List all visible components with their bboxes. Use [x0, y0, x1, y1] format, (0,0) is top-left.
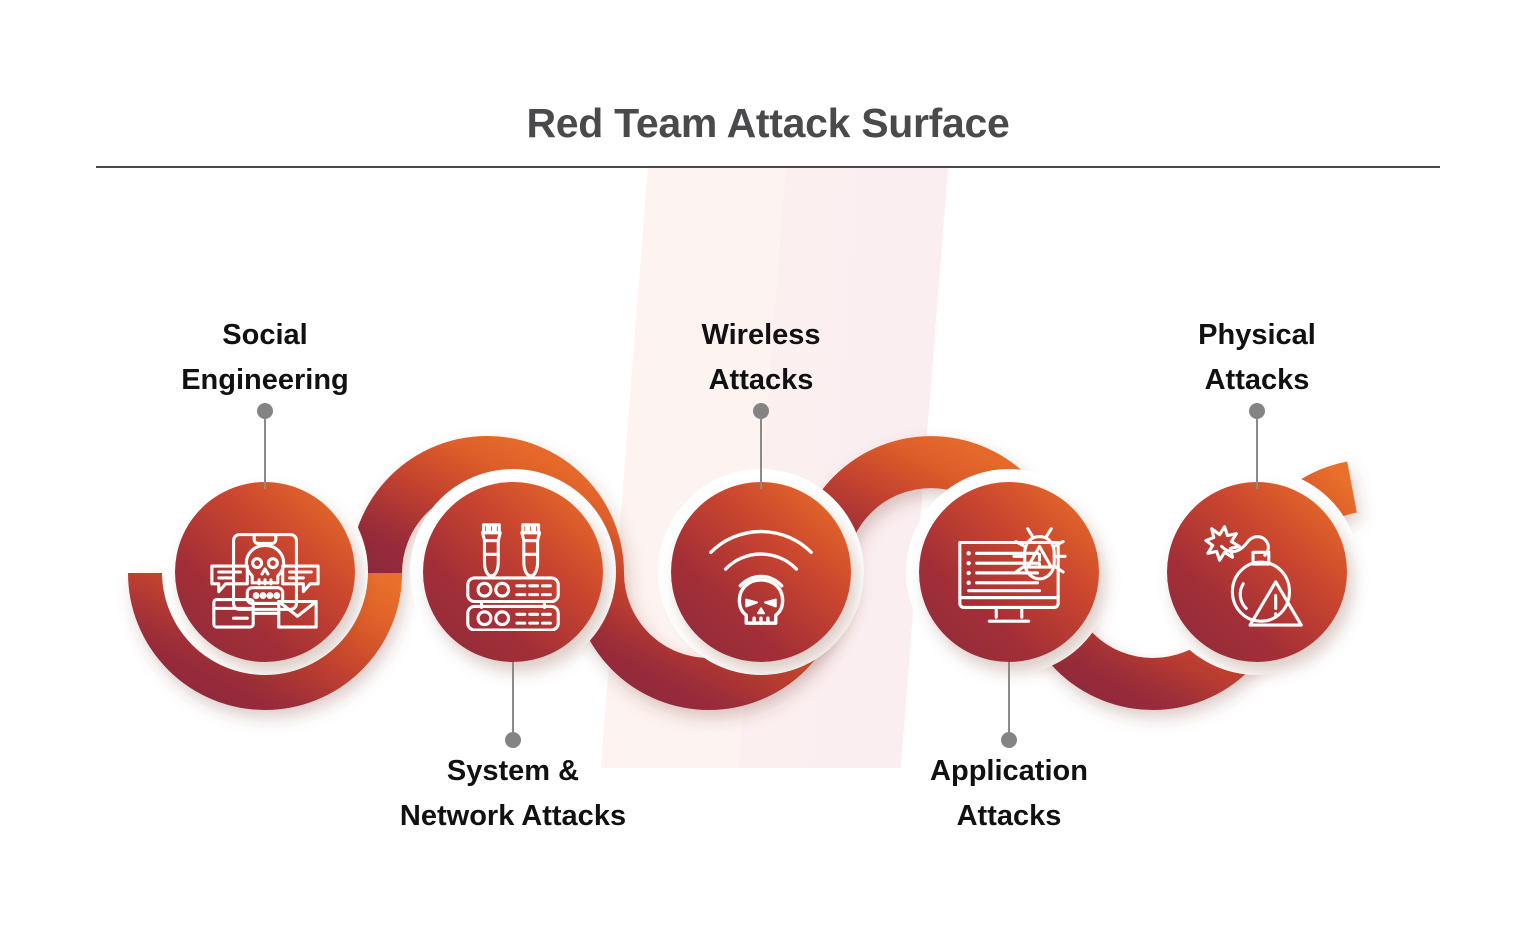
bomb-warning-icon	[1198, 513, 1316, 631]
label-system-network-attacks: System & Network Attacks	[343, 749, 683, 839]
label-wireless-attacks: Wireless Attacks	[611, 313, 911, 403]
page-title: Red Team Attack Surface	[0, 100, 1536, 147]
pin-stem	[760, 417, 762, 489]
bombs-server-rack-icon	[454, 513, 572, 631]
node-wireless-attacks[interactable]	[671, 482, 851, 662]
wifi-skull-icon	[702, 513, 820, 631]
node-physical-attacks[interactable]	[1167, 482, 1347, 662]
node-social-engineering[interactable]	[175, 482, 355, 662]
pin-stem	[1008, 662, 1010, 734]
pin-dot	[1001, 732, 1017, 748]
label-physical-attacks: Physical Attacks	[1107, 313, 1407, 403]
pin-wireless-attacks	[741, 403, 781, 489]
label-application-attacks: Application Attacks	[859, 749, 1159, 839]
infographic-canvas: Red Team Attack Surface	[0, 0, 1536, 933]
pin-dot	[505, 732, 521, 748]
phone-skull-phishing-icon	[206, 513, 324, 631]
pin-social-engineering	[245, 403, 285, 489]
pin-physical-attacks	[1237, 403, 1277, 489]
title-divider	[96, 166, 1440, 168]
pin-application-attacks	[989, 662, 1029, 748]
pin-system-network-attacks	[493, 662, 533, 748]
pin-stem	[1256, 417, 1258, 489]
node-system-network-attacks[interactable]	[423, 482, 603, 662]
pin-stem	[264, 417, 266, 489]
pin-stem	[512, 662, 514, 734]
node-application-attacks[interactable]	[919, 482, 1099, 662]
monitor-bug-icon	[950, 513, 1068, 631]
label-social-engineering: Social Engineering	[105, 313, 425, 403]
